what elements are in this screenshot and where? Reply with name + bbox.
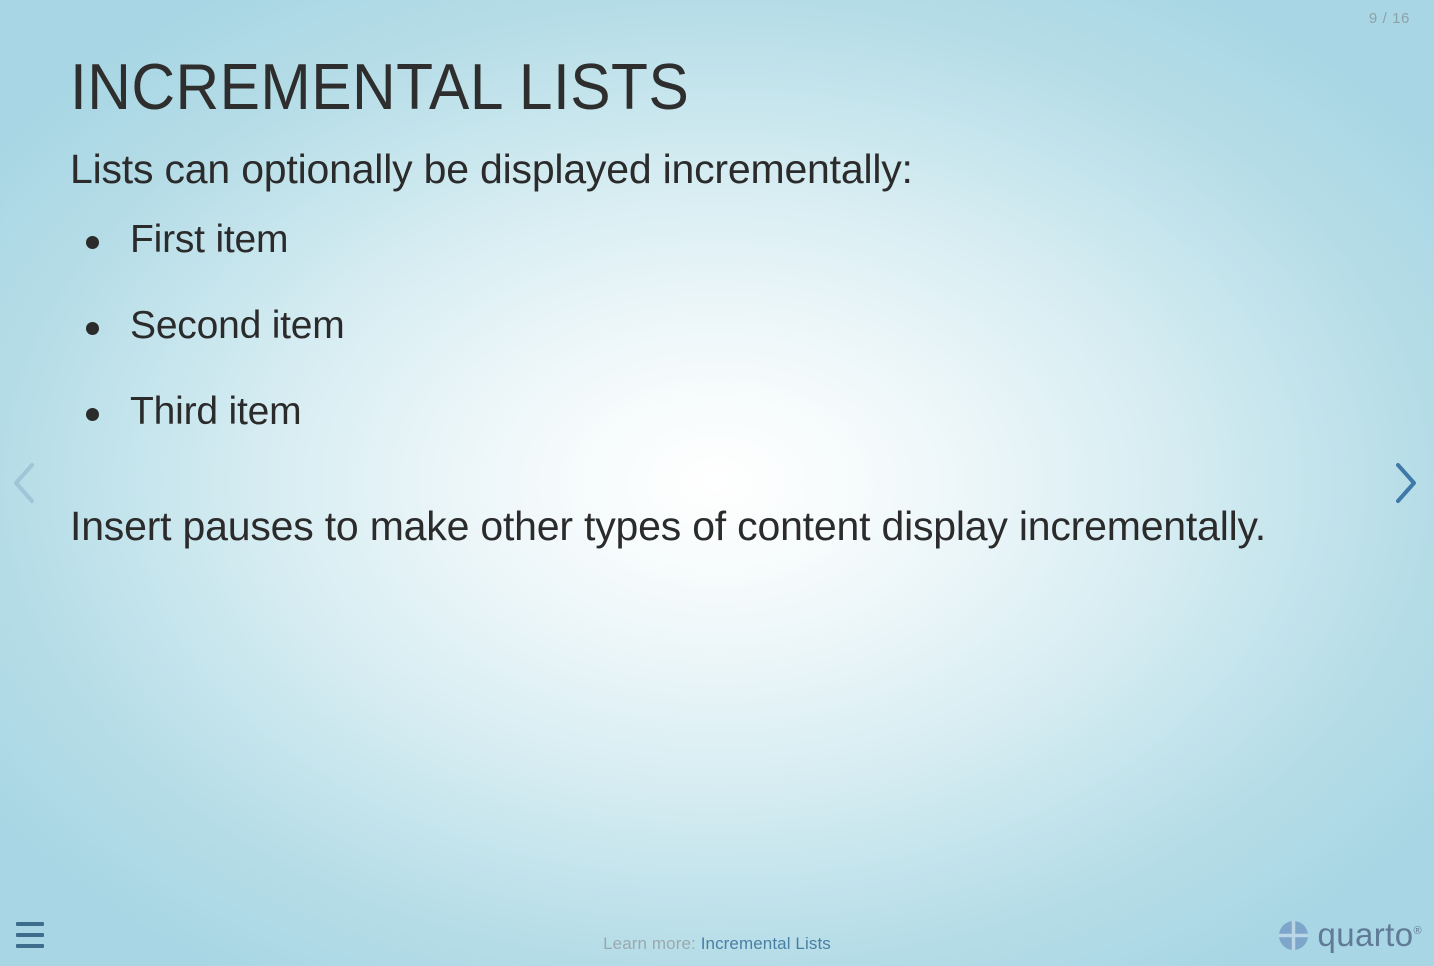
closing-paragraph: Insert pauses to make other types of con… — [70, 494, 1300, 559]
chevron-right-icon — [1393, 462, 1419, 504]
presentation-slide: 9 / 16 Incremental Lists Lists can optio… — [0, 0, 1434, 966]
incremental-bullet-list: First item Second item Third item — [70, 219, 1360, 434]
page-title: Incremental Lists — [70, 52, 1270, 122]
quarto-logo-icon — [1278, 920, 1309, 951]
bullet-dot-icon — [86, 408, 99, 421]
footer-link[interactable]: Incremental Lists — [701, 934, 831, 953]
bullet-dot-icon — [86, 322, 99, 335]
previous-slide-button[interactable] — [2, 453, 46, 513]
footer-prefix: Learn more: — [603, 934, 696, 953]
list-item: Third item — [78, 391, 1360, 434]
quarto-brand-logo: quarto® — [1278, 916, 1423, 954]
quarto-wordmark-text: quarto — [1318, 916, 1414, 953]
next-slide-button[interactable] — [1384, 453, 1428, 513]
list-item-label: Second item — [130, 304, 345, 347]
registered-trademark-icon: ® — [1413, 925, 1422, 937]
slide-footer: Learn more: Incremental Lists — [0, 934, 1434, 954]
bullet-dot-icon — [86, 236, 99, 249]
list-item-label: First item — [130, 218, 288, 261]
lead-paragraph: Lists can optionally be displayed increm… — [70, 144, 1360, 195]
list-item-label: Third item — [130, 390, 301, 433]
chevron-left-icon — [11, 462, 37, 504]
list-item: First item — [78, 219, 1360, 262]
hamburger-menu-icon-bar — [16, 922, 44, 926]
slide-counter: 9 / 16 — [1369, 10, 1410, 27]
list-item: Second item — [78, 305, 1360, 348]
quarto-wordmark: quarto® — [1318, 916, 1423, 954]
slide-content: Incremental Lists Lists can optionally b… — [70, 52, 1360, 559]
